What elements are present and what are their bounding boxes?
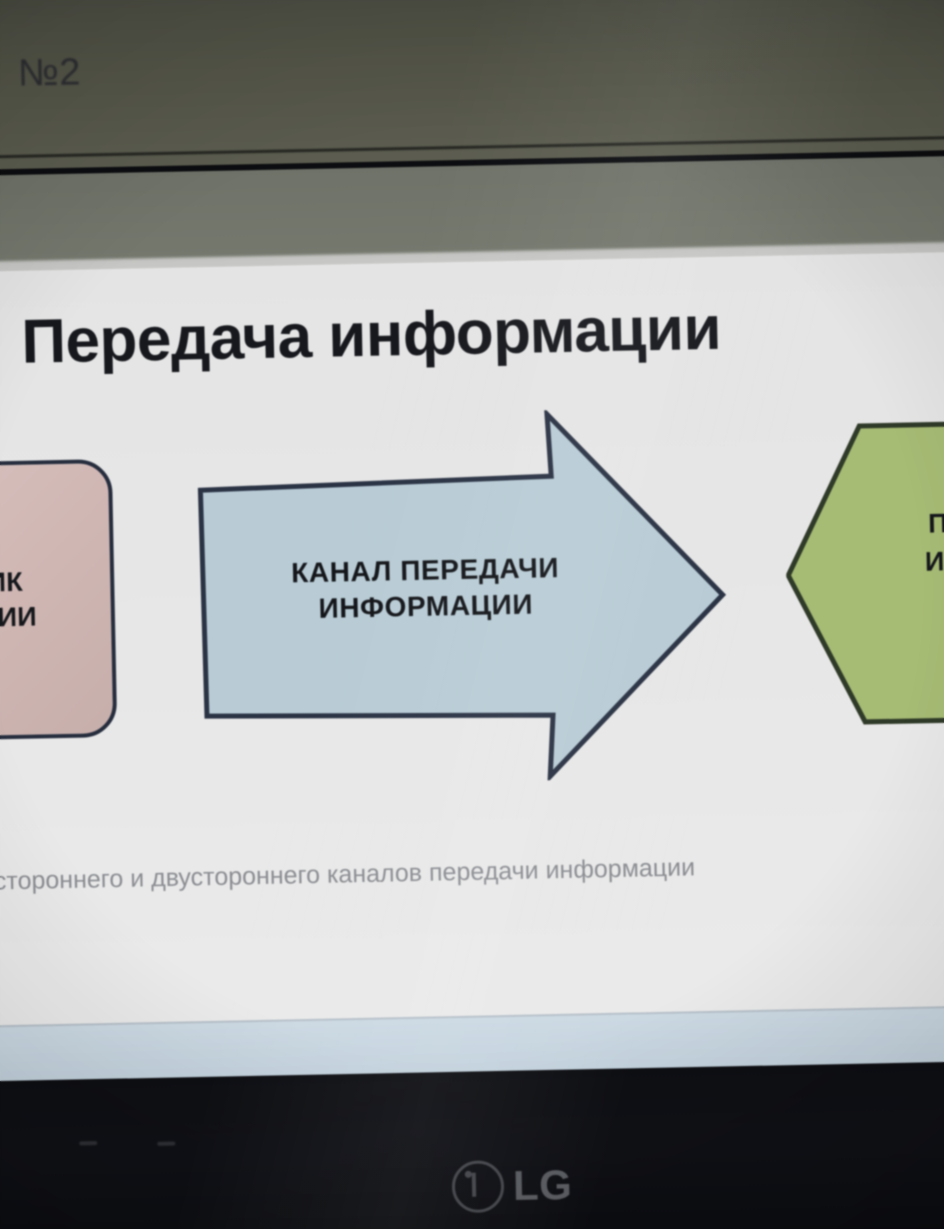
- hexagon-label-line1: ПРИЕ: [928, 507, 944, 539]
- page-title: Передача информации: [21, 293, 722, 378]
- monitor-photograph: №2 Передача информации ЧНИК МАЦИИ КАНАЛ …: [0, 0, 944, 1229]
- source-box-line1: ЧНИК: [0, 567, 23, 599]
- source-of-information-box: ЧНИК МАЦИИ: [0, 459, 117, 742]
- source-box-label: ЧНИК МАЦИИ: [0, 565, 37, 636]
- bezel-indicator-dot-right: [157, 1141, 175, 1145]
- arrow-label: КАНАЛ ПЕРЕДАЧИ ИНФОРМАЦИИ: [260, 549, 591, 628]
- slide-caption: одностороннего и двустороннего каналов п…: [0, 848, 944, 897]
- lg-wordmark: LG: [513, 1161, 573, 1210]
- source-box-line2: МАЦИИ: [0, 602, 37, 634]
- lg-circle-face-icon: [452, 1160, 505, 1213]
- dimmed-screen-region: [0, 0, 944, 170]
- hexagon-label-line2: ИНФО: [925, 545, 944, 577]
- dimmed-header-text: №2: [18, 51, 82, 95]
- hexagon-label: ПРИЕ ИНФО Р: [851, 502, 944, 622]
- arrow-label-line1: КАНАЛ ПЕРЕДАЧИ: [291, 552, 559, 588]
- presentation-slide: Передача информации ЧНИК МАЦИИ КАНАЛ ПЕР…: [0, 251, 944, 1031]
- bezel-indicator-dot-left: [79, 1141, 97, 1145]
- lg-brand-logo: LG: [452, 1159, 573, 1213]
- transmission-channel-arrow: КАНАЛ ПЕРЕДАЧИ ИНФОРМАЦИИ: [195, 406, 762, 787]
- receiver-of-information-hexagon: ПРИЕ ИНФО Р: [783, 417, 944, 733]
- arrow-label-line2: ИНФОРМАЦИИ: [318, 589, 533, 624]
